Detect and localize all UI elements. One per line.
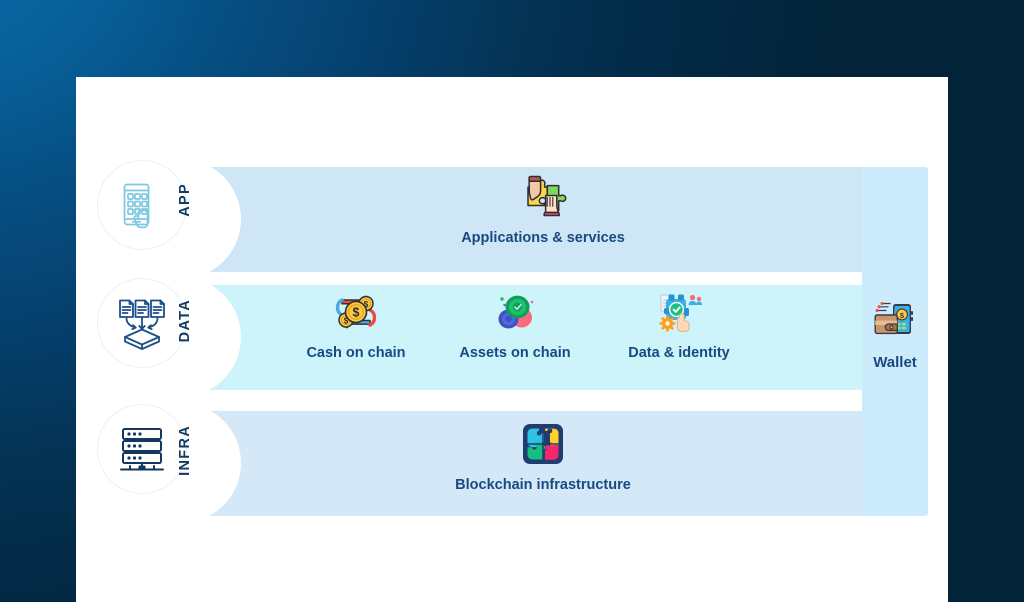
item-label: Cash on chain xyxy=(266,346,446,362)
wallet-content: $ xyxy=(862,300,928,372)
layer-icon-circle-data xyxy=(97,278,187,368)
layer-side-label-data: DATA xyxy=(178,299,193,342)
layer-side-label-app: APP xyxy=(178,183,193,217)
item-label: Applications & services xyxy=(428,231,658,247)
item-label: Assets on chain xyxy=(425,346,605,362)
item-label: Data & identity xyxy=(589,346,769,362)
item-label: Blockchain infrastructure xyxy=(408,478,678,494)
wallet-phone-coin-icon: $ xyxy=(862,300,928,347)
layer-stack: APP xyxy=(76,77,948,602)
layer-icon-circle-app xyxy=(97,160,187,250)
identity-verified-icon xyxy=(589,290,769,339)
server-rack-icon xyxy=(116,423,168,475)
item-assets-on-chain[interactable]: Assets on chain xyxy=(425,290,605,362)
dollar-coins-cycle-icon: $ $ $ xyxy=(266,290,446,339)
phone-in-hand-icon xyxy=(116,179,168,231)
screenshot-stage: APP xyxy=(0,0,1024,602)
item-blockchain-infrastructure[interactable]: Blockchain infrastructure xyxy=(408,422,678,494)
diagram-card: APP xyxy=(76,77,948,602)
wallet-label: Wallet xyxy=(862,355,928,372)
item-applications-services[interactable]: Applications & services xyxy=(428,173,658,247)
item-cash-on-chain[interactable]: $ $ $ Cash on chain xyxy=(266,290,446,362)
four-piece-puzzle-icon xyxy=(408,422,678,471)
documents-into-box-icon xyxy=(115,296,169,350)
layer-icon-circle-infra xyxy=(97,404,187,494)
item-data-identity[interactable]: Data & identity xyxy=(589,290,769,362)
stacked-coins-icon xyxy=(425,290,605,339)
hands-puzzle-icon xyxy=(428,173,658,224)
svg-text:$: $ xyxy=(353,306,360,320)
wallet-column[interactable]: $ xyxy=(862,167,928,516)
layer-side-label-infra: INFRA xyxy=(178,425,193,476)
